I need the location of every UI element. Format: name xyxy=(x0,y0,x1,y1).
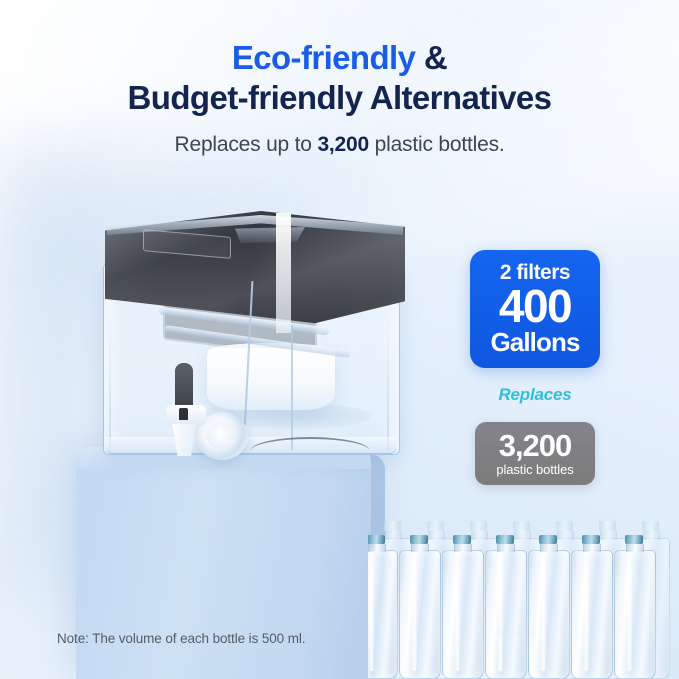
plastic-bottle xyxy=(571,535,611,679)
subheading-suffix: plastic bottles. xyxy=(369,133,505,156)
spigot-backplate-inner xyxy=(207,422,237,450)
plastic-bottle xyxy=(614,535,654,679)
subheading: Replaces up to 3,200 plastic bottles. xyxy=(0,133,679,157)
tank-inner-tube xyxy=(291,325,293,450)
bottle-cap xyxy=(427,521,444,531)
bottle-neck xyxy=(497,544,515,552)
headline-highlight: Eco-friendly xyxy=(232,39,416,76)
headline-line-2: Budget-friendly Alternatives xyxy=(0,78,679,118)
bottle-cap xyxy=(470,521,487,531)
bottle-cap xyxy=(556,521,573,531)
headline: Eco-friendly & Budget-friendly Alternati… xyxy=(0,38,679,119)
bottle-highlight xyxy=(583,567,590,671)
water-filter-dispenser xyxy=(95,205,415,455)
bottle-neck xyxy=(540,544,558,552)
bottle-cap xyxy=(368,535,385,544)
bottle-body xyxy=(614,550,656,679)
lid-fill-slot xyxy=(235,227,305,243)
bottles-badge: 3,200 plastic bottles xyxy=(475,422,595,485)
bottle-cap xyxy=(513,521,530,531)
plastic-bottles-group xyxy=(368,505,679,679)
bottle-body xyxy=(528,550,570,679)
bottle-highlight xyxy=(540,567,547,671)
footnote: Note: The volume of each bottle is 500 m… xyxy=(57,631,305,646)
plastic-bottle xyxy=(485,535,525,679)
headline-ampersand: & xyxy=(415,39,447,76)
headline-line-1: Eco-friendly & xyxy=(0,38,679,78)
bottle-cap xyxy=(599,521,616,531)
product-marketing-image: Eco-friendly & Budget-friendly Alternati… xyxy=(0,0,679,679)
bottle-cap xyxy=(539,535,557,544)
capacity-badge: 2 filters 400 Gallons xyxy=(470,250,600,368)
filter-indicator xyxy=(175,363,193,411)
bottle-cap xyxy=(410,535,428,544)
spigot-lever xyxy=(179,408,188,420)
bottles-badge-number: 3,200 xyxy=(499,430,572,461)
bottle-neck xyxy=(454,544,472,552)
plastic-bottle xyxy=(442,535,482,679)
capacity-badge-gallons-number: 400 xyxy=(499,285,571,329)
bottle-neck xyxy=(411,544,429,552)
capacity-badge-gallons-unit: Gallons xyxy=(490,329,579,356)
bottles-badge-unit: plastic bottles xyxy=(496,462,573,478)
lid-light-stripe xyxy=(276,213,291,333)
bottle-highlight xyxy=(368,567,375,671)
bottle-highlight xyxy=(454,567,461,671)
bottle-cap xyxy=(625,535,643,544)
bottle-neck xyxy=(583,544,601,552)
bottle-cap xyxy=(384,521,401,531)
bottle-neck xyxy=(626,544,644,552)
subheading-number: 3,200 xyxy=(317,133,369,156)
bottle-body xyxy=(571,550,613,679)
bottle-highlight xyxy=(497,567,504,671)
bottle-body xyxy=(399,550,441,679)
bottle-body xyxy=(485,550,527,679)
bottle-cap xyxy=(582,535,600,544)
bottle-highlight xyxy=(626,567,633,671)
bottle-neck xyxy=(368,544,386,552)
subheading-prefix: Replaces up to xyxy=(175,133,318,156)
bottle-highlight xyxy=(411,567,418,671)
plastic-bottle xyxy=(399,535,439,679)
bottle-cap xyxy=(496,535,514,544)
water-filter-cartridge xyxy=(207,348,335,410)
bottle-cap xyxy=(453,535,471,544)
bottle-body xyxy=(442,550,484,679)
plastic-bottle xyxy=(368,535,396,679)
plastic-bottle xyxy=(528,535,568,679)
bottle-cap xyxy=(642,521,659,531)
replaces-label: Replaces xyxy=(470,385,600,405)
